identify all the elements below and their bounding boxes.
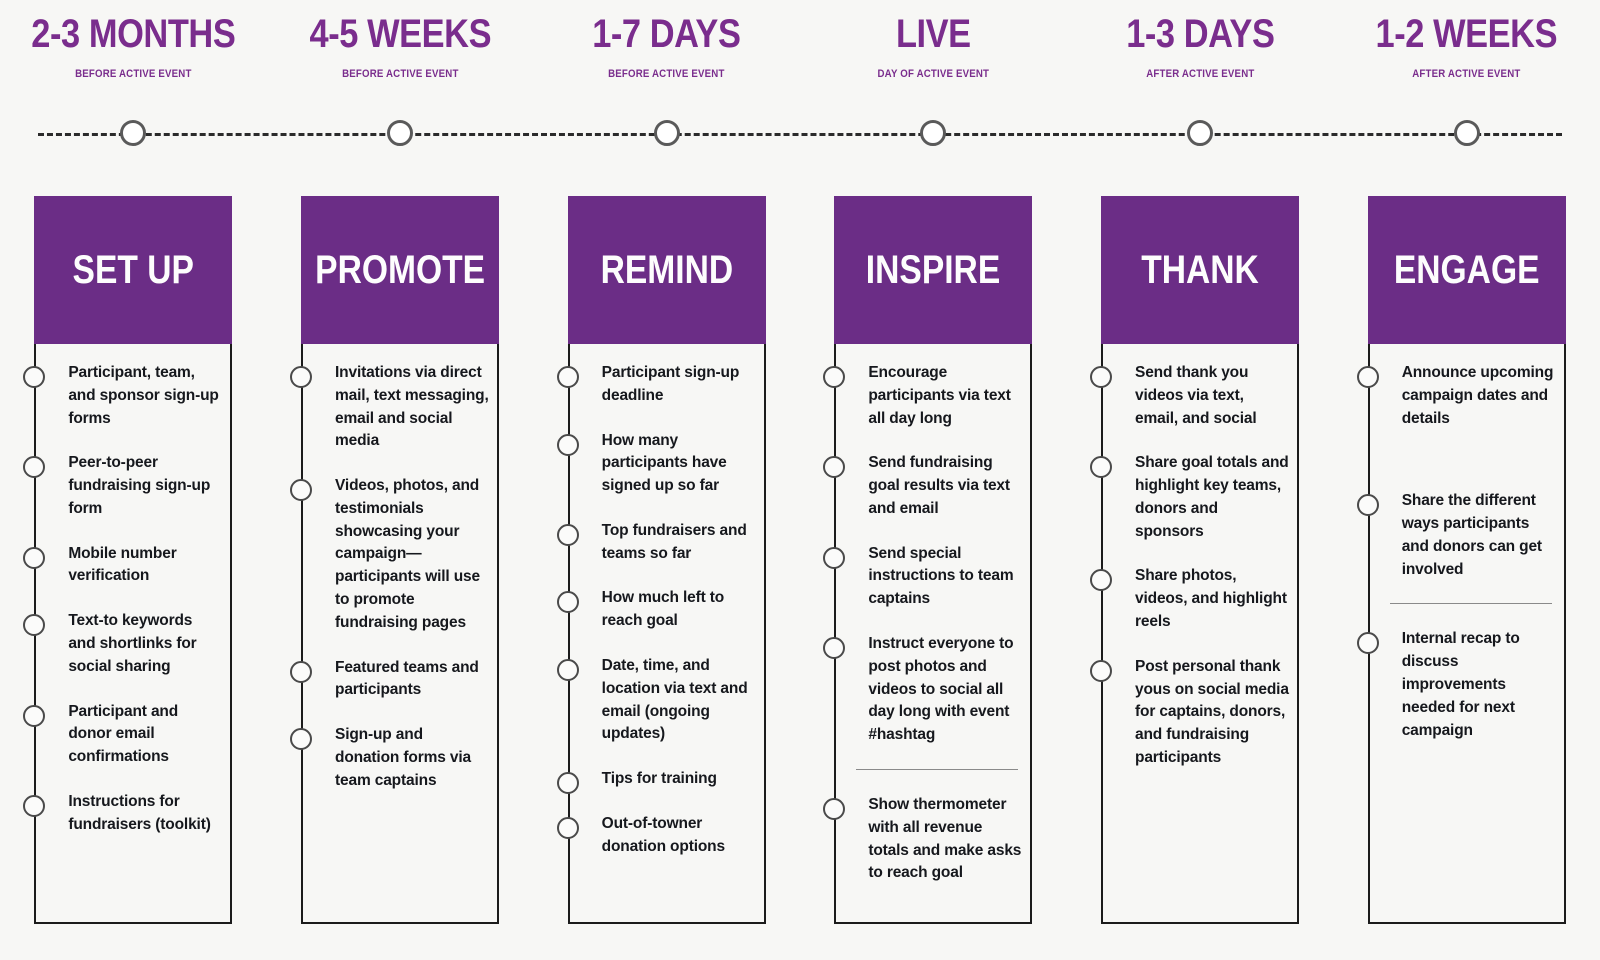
timeline-header: 2-3 MONTHSBEFORE ACTIVE EVENT4-5 WEEKSBE… <box>0 0 1600 160</box>
phase-card-header: SET UP <box>34 196 232 344</box>
phase-column-slot: THANKSend thank you videos via text, ema… <box>1067 196 1334 924</box>
phase-column-slot: SET UPParticipant, team, and sponsor sig… <box>0 196 267 924</box>
timeline-relation-label: BEFORE ACTIVE EVENT <box>16 68 251 80</box>
timeline-milestone: 1-2 WEEKSAFTER ACTIVE EVENT <box>1333 0 1600 80</box>
phase-item-text: Mobile number verification <box>68 545 176 585</box>
phase-item-list: Encourage participants via text all day … <box>836 362 1022 885</box>
timeline-node-circle-icon <box>387 120 413 146</box>
phase-item-text: Participant sign-up deadline <box>602 364 740 404</box>
timeline-relation-label: AFTER ACTIVE EVENT <box>1083 68 1318 80</box>
phase-item: Date, time, and location via text and em… <box>570 655 756 746</box>
phase-item-divider <box>1390 603 1552 604</box>
phase-item-text: Date, time, and location via text and em… <box>602 657 748 742</box>
timeline-dashed-rail <box>38 133 1562 136</box>
phase-item: Participant, team, and sponsor sign-up f… <box>36 362 222 430</box>
timeline-node-circle-icon <box>920 120 946 146</box>
phase-item: Top fundraisers and teams so far <box>570 520 756 566</box>
timeline-period-label: LIVE <box>819 14 1048 54</box>
phase-item-text: Send fundraising goal results via text a… <box>868 454 1010 517</box>
phase-item: Out-of-towner donation options <box>570 813 756 859</box>
phase-columns: SET UPParticipant, team, and sponsor sig… <box>0 196 1600 924</box>
phase-card: ENGAGEAnnounce upcoming campaign dates a… <box>1368 196 1566 924</box>
phase-item-text: Share goal totals and highlight key team… <box>1135 454 1289 539</box>
bullet-circle-icon <box>557 366 579 388</box>
timeline-milestone-labels: 2-3 MONTHSBEFORE ACTIVE EVENT4-5 WEEKSBE… <box>0 0 1600 80</box>
phase-item-text: Invitations via direct mail, text messag… <box>335 364 489 449</box>
phase-item: Tips for training <box>570 768 756 791</box>
bullet-circle-icon <box>557 524 579 546</box>
phase-title: REMIND <box>600 250 733 290</box>
bullet-circle-icon <box>23 366 45 388</box>
phase-card-header: THANK <box>1101 196 1299 344</box>
phase-card-header: PROMOTE <box>301 196 499 344</box>
phase-card: INSPIREEncourage participants via text a… <box>834 196 1032 924</box>
phase-column-slot: PROMOTEInvitations via direct mail, text… <box>267 196 534 924</box>
phase-item-divider <box>856 769 1018 770</box>
phase-item: Send fundraising goal results via text a… <box>836 452 1022 520</box>
phase-item: Post personal thank yous on social media… <box>1103 656 1289 770</box>
phase-title: PROMOTE <box>315 250 485 290</box>
phase-item: How much left to reach goal <box>570 587 756 633</box>
bullet-circle-icon <box>290 728 312 750</box>
phase-item-text: Participant, team, and sponsor sign-up f… <box>68 364 218 427</box>
timeline-milestone: LIVEDAY OF ACTIVE EVENT <box>800 0 1067 80</box>
bullet-circle-icon <box>1090 366 1112 388</box>
phase-card-body: Announce upcoming campaign dates and det… <box>1368 344 1566 924</box>
phase-item-text: Encourage participants via text all day … <box>868 364 1010 427</box>
phase-item-list: Participant, team, and sponsor sign-up f… <box>36 362 222 837</box>
timeline-node-circle-icon <box>120 120 146 146</box>
bullet-circle-icon <box>23 547 45 569</box>
timeline-milestone: 2-3 MONTHSBEFORE ACTIVE EVENT <box>0 0 267 80</box>
phase-card-body: Encourage participants via text all day … <box>834 344 1032 924</box>
phase-column-slot: INSPIREEncourage participants via text a… <box>800 196 1067 924</box>
phase-item-text: Share photos, videos, and highlight reel… <box>1135 567 1287 630</box>
bullet-circle-icon <box>290 479 312 501</box>
timeline-node-circle-icon <box>654 120 680 146</box>
timeline-relation-label: BEFORE ACTIVE EVENT <box>549 68 784 80</box>
phase-item-text: Out-of-towner donation options <box>602 815 725 855</box>
bullet-circle-icon <box>23 614 45 636</box>
phase-item: Share photos, videos, and highlight reel… <box>1103 565 1289 633</box>
bullet-circle-icon <box>290 661 312 683</box>
phase-item-text: Text-to keywords and shortlinks for soci… <box>68 612 196 675</box>
phase-card: SET UPParticipant, team, and sponsor sig… <box>34 196 232 924</box>
phase-card: REMINDParticipant sign-up deadlineHow ma… <box>568 196 766 924</box>
bullet-circle-icon <box>1090 660 1112 682</box>
phase-item-text: Tips for training <box>602 770 717 787</box>
phase-item-text: How much left to reach goal <box>602 589 724 629</box>
phase-item-text: Videos, photos, and testimonials showcas… <box>335 477 480 631</box>
phase-item: Internal recap to discuss improvements n… <box>1370 628 1556 742</box>
bullet-circle-icon <box>823 637 845 659</box>
phase-item: Send thank you videos via text, email, a… <box>1103 362 1289 430</box>
phase-item-text: Show thermometer with all revenue totals… <box>868 796 1021 881</box>
phase-item: Mobile number verification <box>36 543 222 589</box>
bullet-circle-icon <box>557 772 579 794</box>
phase-item-text: Featured teams and participants <box>335 659 479 699</box>
phase-item: Encourage participants via text all day … <box>836 362 1022 430</box>
phase-item-text: Sign-up and donation forms via team capt… <box>335 726 471 789</box>
phase-item: Sign-up and donation forms via team capt… <box>303 724 489 792</box>
phase-item-text: Send thank you videos via text, email, a… <box>1135 364 1257 427</box>
phase-item-text: Instructions for fundraisers (toolkit) <box>68 793 210 833</box>
phase-item: Share goal totals and highlight key team… <box>1103 452 1289 543</box>
phase-item-text: Post personal thank yous on social media… <box>1135 658 1289 766</box>
phase-card-body: Invitations via direct mail, text messag… <box>301 344 499 924</box>
bullet-circle-icon <box>557 434 579 456</box>
bullet-circle-icon <box>1090 456 1112 478</box>
phase-column-slot: ENGAGEAnnounce upcoming campaign dates a… <box>1333 196 1600 924</box>
timeline-period-label: 2-3 MONTHS <box>19 14 248 54</box>
phase-title: ENGAGE <box>1394 250 1540 290</box>
phase-item: How many participants have signed up so … <box>570 430 756 498</box>
phase-title: THANK <box>1141 250 1259 290</box>
phase-item-text: Send special instructions to team captai… <box>868 545 1013 608</box>
phase-item-list: Participant sign-up deadlineHow many par… <box>570 362 756 859</box>
timeline-period-label: 1-2 WEEKS <box>1352 14 1581 54</box>
phase-item-text: Announce upcoming campaign dates and det… <box>1402 364 1554 427</box>
bullet-circle-icon <box>1357 632 1379 654</box>
phase-item: Instruct everyone to post photos and vid… <box>836 633 1022 747</box>
phase-title: SET UP <box>73 250 194 290</box>
bullet-circle-icon <box>823 547 845 569</box>
phase-item-text: Instruct everyone to post photos and vid… <box>868 635 1013 743</box>
phase-item-text: Participant and donor email confirmation… <box>68 703 178 766</box>
phase-item-text: Top fundraisers and teams so far <box>602 522 747 562</box>
timeline-relation-label: AFTER ACTIVE EVENT <box>1349 68 1584 80</box>
phase-item-list: Invitations via direct mail, text messag… <box>303 362 489 793</box>
phase-item-text: How many participants have signed up so … <box>602 432 727 495</box>
bullet-circle-icon <box>557 817 579 839</box>
timeline-relation-label: BEFORE ACTIVE EVENT <box>283 68 518 80</box>
phase-item: Peer-to-peer fundraising sign-up form <box>36 452 222 520</box>
bullet-circle-icon <box>557 659 579 681</box>
phase-card: PROMOTEInvitations via direct mail, text… <box>301 196 499 924</box>
phase-item-list: Announce upcoming campaign dates and det… <box>1370 362 1556 742</box>
campaign-timeline-infographic: 2-3 MONTHSBEFORE ACTIVE EVENT4-5 WEEKSBE… <box>0 0 1600 960</box>
phase-card-header: ENGAGE <box>1368 196 1566 344</box>
bullet-circle-icon <box>823 366 845 388</box>
timeline-relation-label: DAY OF ACTIVE EVENT <box>816 68 1051 80</box>
phase-card: THANKSend thank you videos via text, ema… <box>1101 196 1299 924</box>
phase-item-text: Share the different ways participants an… <box>1402 492 1542 577</box>
timeline-period-label: 1-3 DAYS <box>1085 14 1314 54</box>
timeline-node-circle-icon <box>1454 120 1480 146</box>
bullet-circle-icon <box>23 795 45 817</box>
phase-card-header: INSPIRE <box>834 196 1032 344</box>
phase-item-list: Send thank you videos via text, email, a… <box>1103 362 1289 770</box>
phase-title: INSPIRE <box>866 250 1000 290</box>
timeline-milestone: 1-7 DAYSBEFORE ACTIVE EVENT <box>533 0 800 80</box>
phase-item: Show thermometer with all revenue totals… <box>836 794 1022 885</box>
timeline-period-label: 4-5 WEEKS <box>285 14 514 54</box>
bullet-circle-icon <box>823 798 845 820</box>
phase-item: Featured teams and participants <box>303 657 489 703</box>
phase-card-body: Participant, team, and sponsor sign-up f… <box>34 344 232 924</box>
phase-item: Participant and donor email confirmation… <box>36 701 222 769</box>
phase-item: Announce upcoming campaign dates and det… <box>1370 362 1556 430</box>
phase-item: Send special instructions to team captai… <box>836 543 1022 611</box>
phase-item-text: Internal recap to discuss improvements n… <box>1402 630 1520 738</box>
phase-item: Text-to keywords and shortlinks for soci… <box>36 610 222 678</box>
phase-card-body: Participant sign-up deadlineHow many par… <box>568 344 766 924</box>
bullet-circle-icon <box>290 366 312 388</box>
timeline-period-label: 1-7 DAYS <box>552 14 781 54</box>
bullet-circle-icon <box>823 456 845 478</box>
bullet-circle-icon <box>23 705 45 727</box>
bullet-circle-icon <box>1357 494 1379 516</box>
phase-column-slot: REMINDParticipant sign-up deadlineHow ma… <box>533 196 800 924</box>
timeline-milestone: 4-5 WEEKSBEFORE ACTIVE EVENT <box>267 0 534 80</box>
phase-item: Participant sign-up deadline <box>570 362 756 408</box>
phase-item: Videos, photos, and testimonials showcas… <box>303 475 489 634</box>
bullet-circle-icon <box>557 591 579 613</box>
phase-item: Share the different ways participants an… <box>1370 490 1556 581</box>
timeline-milestone: 1-3 DAYSAFTER ACTIVE EVENT <box>1067 0 1334 80</box>
bullet-circle-icon <box>1357 366 1379 388</box>
phase-item: Invitations via direct mail, text messag… <box>303 362 489 453</box>
phase-card-body: Send thank you videos via text, email, a… <box>1101 344 1299 924</box>
timeline-node-circle-icon <box>1187 120 1213 146</box>
bullet-circle-icon <box>1090 569 1112 591</box>
bullet-circle-icon <box>23 456 45 478</box>
phase-item: Instructions for fundraisers (toolkit) <box>36 791 222 837</box>
phase-card-header: REMIND <box>568 196 766 344</box>
phase-item-text: Peer-to-peer fundraising sign-up form <box>68 454 210 517</box>
